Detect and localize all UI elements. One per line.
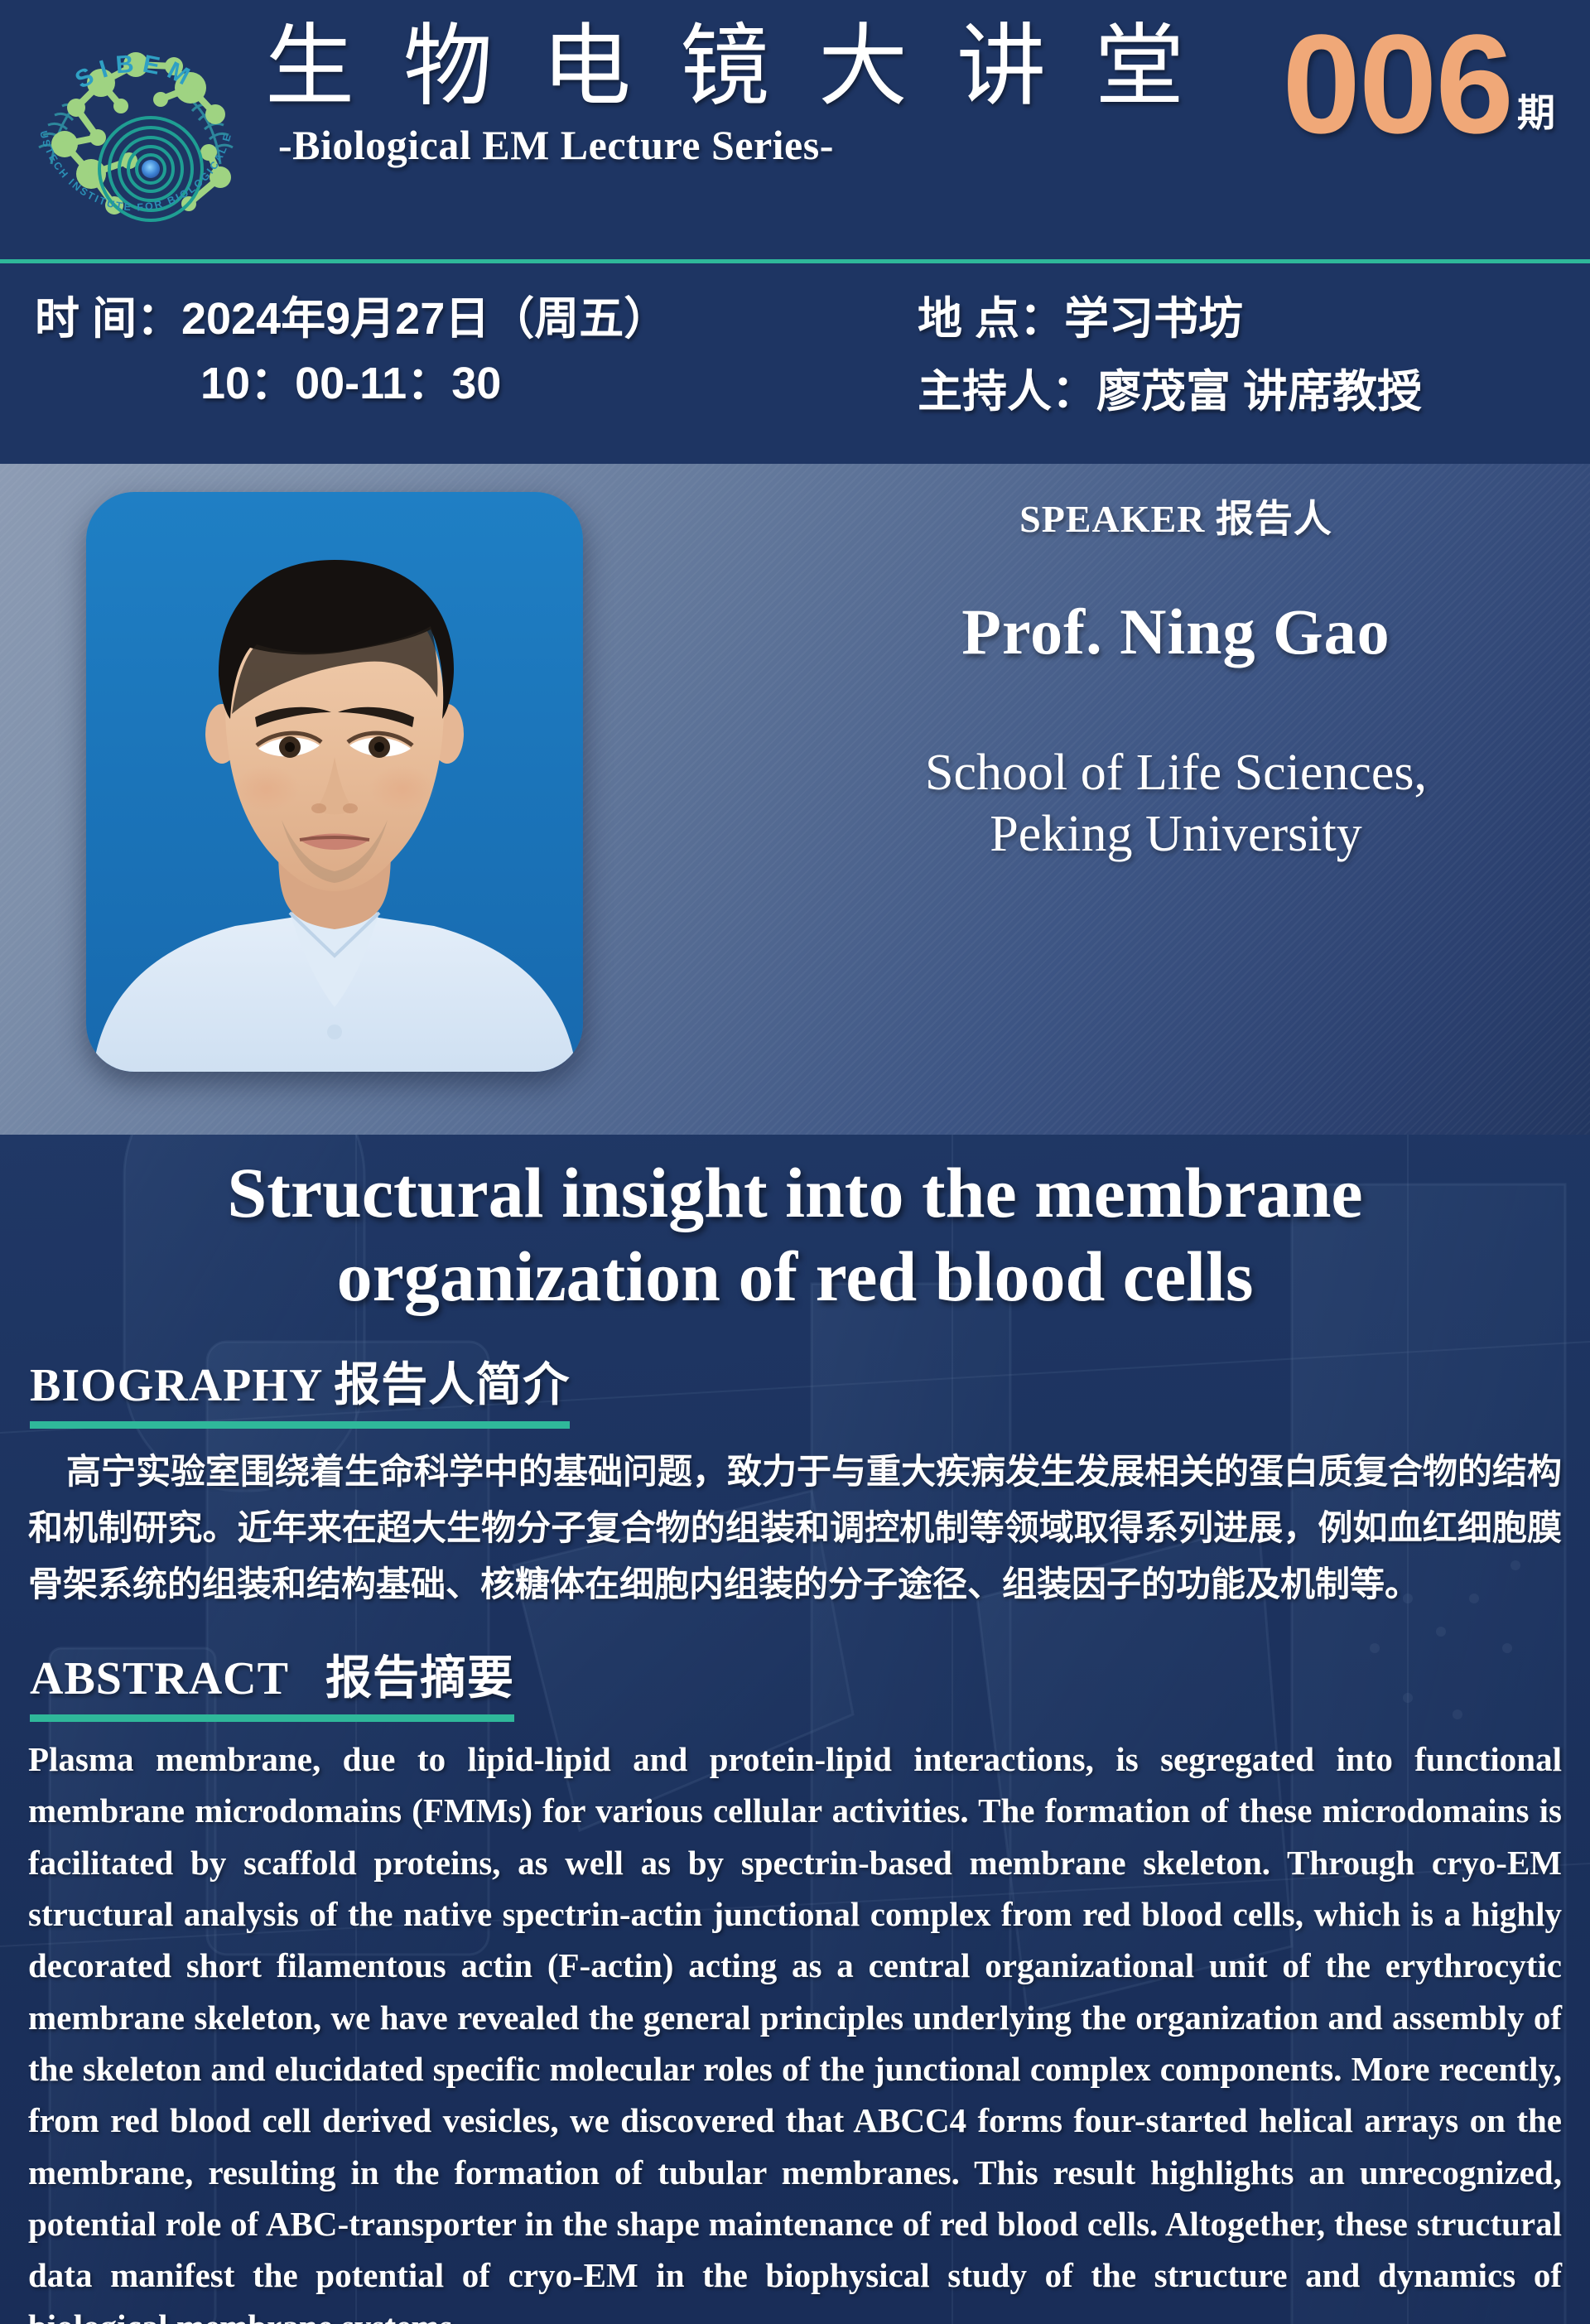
poster-title-cn: 生 物 电 镜 大 讲 堂 [265,17,1159,119]
speaker-affiliation-line1: School of Life Sciences, [812,742,1540,803]
issue-badge: 006 期 [1282,18,1555,152]
speaker-name: Prof. Ning Gao [812,595,1540,669]
event-date-line: 时 间：2024年9月27日（周五） [35,287,668,351]
biography-heading-rule [30,1421,570,1429]
event-place-line: 地 点：学习书坊 [918,287,1422,351]
abstract-heading-rule [30,1714,514,1722]
talk-title-line2: organization of red blood cells [0,1235,1590,1319]
lecture-poster: SIBEM SUSTECH INSTITUTE FOR BIOLOGICAL E… [0,0,1590,2324]
poster-header: SIBEM SUSTECH INSTITUTE FOR BIOLOGICAL E… [0,0,1590,265]
abstract-heading-text: ABSTRACT 报告摘要 [30,1641,514,1708]
abstract-heading-en: ABSTRACT [30,1653,288,1704]
event-info-bar: 时 间：2024年9月27日（周五） 10：00-11：30 地 点：学习书坊 … [0,265,1590,464]
event-time-line: 10：00-11：30 [200,351,668,416]
event-host-line: 主持人：廖茂富 讲席教授 [918,359,1422,424]
talk-title: Structural insight into the membrane org… [0,1135,1590,1319]
talk-title-line1: Structural insight into the membrane [0,1151,1590,1235]
sibem-logo: SIBEM SUSTECH INSTITUTE FOR BIOLOGICAL E… [12,7,260,255]
event-place-block: 地 点：学习书坊 主持人：廖茂富 讲席教授 [918,287,1422,425]
speaker-kicker-label: SPEAKER 报告人 [812,489,1540,543]
speaker-photo [86,492,583,1072]
poster-title-en: -Biological EM Lecture Series- [278,121,1159,169]
biography-body: 高宁实验室围绕着生命科学中的基础问题，致力于与重大疾病发生发展相关的蛋白质复合物… [28,1444,1562,1613]
abstract-heading-cn: 报告摘要 [325,1653,514,1704]
logo-arc-top-text: SIBEM [70,50,200,94]
speaker-affiliation: School of Life Sciences, Peking Universi… [812,742,1540,865]
issue-suffix: 期 [1517,83,1555,137]
biography-heading-text: BIOGRAPHY 报告人简介 [30,1348,570,1415]
biography-heading: BIOGRAPHY 报告人简介 [30,1348,570,1429]
biography-heading-en: BIOGRAPHY [30,1360,321,1411]
abstract-heading: ABSTRACT 报告摘要 [30,1641,514,1722]
abstract-body: Plasma membrane, due to lipid-lipid and … [28,1733,1562,2324]
poster-body: Structural insight into the membrane org… [0,1135,1590,2324]
speaker-info: SPEAKER 报告人 Prof. Ning Gao School of Lif… [812,489,1540,865]
speaker-affiliation-line2: Peking University [812,803,1540,865]
header-divider-rule [0,259,1590,263]
event-time-block: 时 间：2024年9月27日（周五） 10：00-11：30 [35,287,668,417]
biography-heading-cn: 报告人简介 [334,1360,570,1411]
issue-number: 006 [1282,18,1512,152]
header-titles: 生 物 电 镜 大 讲 堂 -Biological EM Lecture Ser… [265,17,1159,169]
